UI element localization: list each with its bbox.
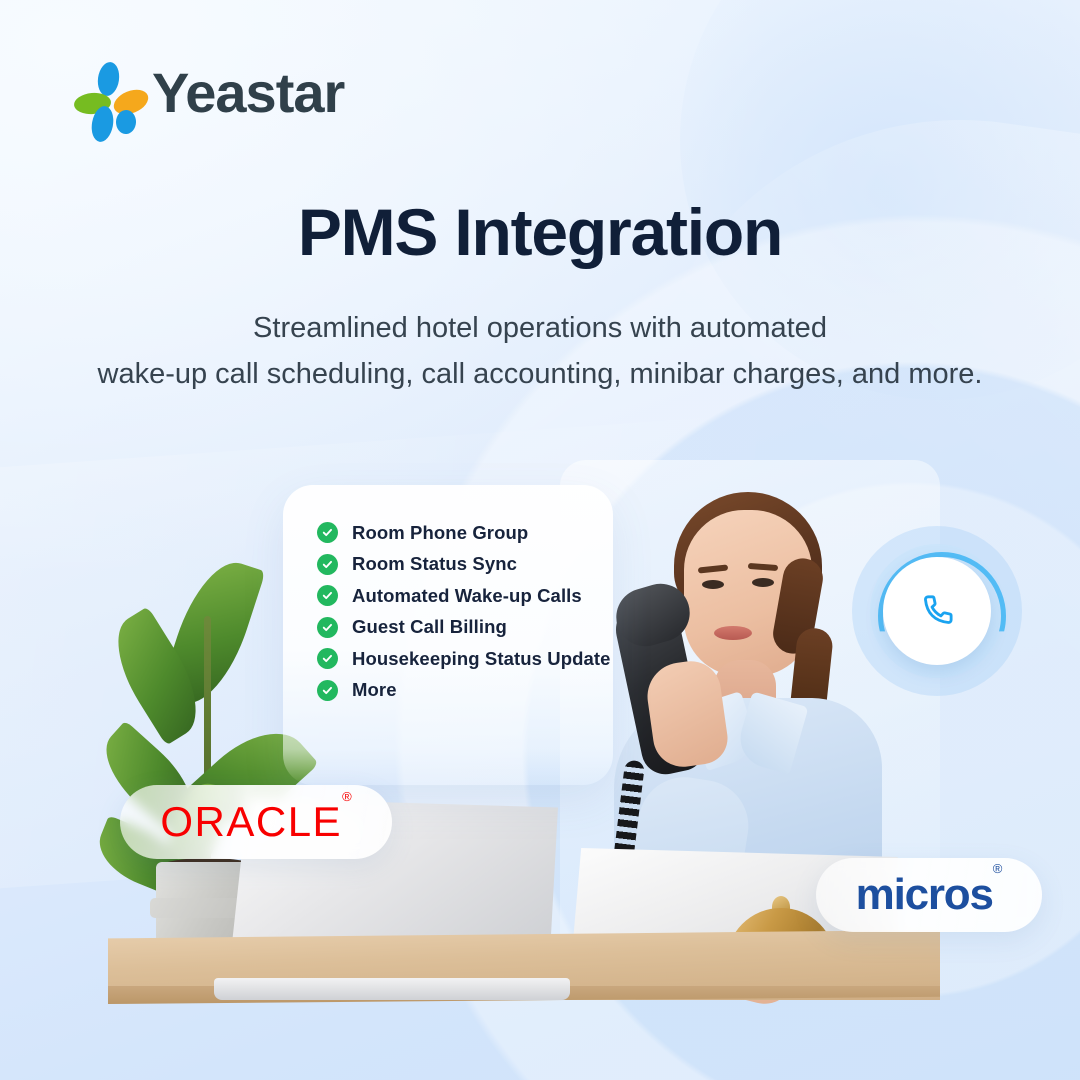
brand-wordmark: Yeastar bbox=[152, 65, 344, 121]
feature-list: Room Phone Group Room Status Sync Automa… bbox=[283, 485, 613, 706]
illustration-scene: Room Phone Group Room Status Sync Automa… bbox=[0, 430, 1080, 1080]
person-eye bbox=[752, 578, 774, 587]
logo-petal-top bbox=[96, 61, 122, 98]
phone-handset-icon bbox=[917, 591, 957, 631]
micros-trademark: ® bbox=[993, 861, 1003, 876]
feature-label: Housekeeping Status Update bbox=[352, 648, 611, 670]
logo-petal-center bbox=[116, 110, 137, 135]
laptop-left-base bbox=[214, 978, 570, 1000]
yeastar-pinwheel-logo-icon bbox=[78, 62, 138, 124]
promo-graphic: Yeastar PMS Integration Streamlined hote… bbox=[0, 0, 1080, 1080]
partner-badge-oracle[interactable]: ORACLE® bbox=[120, 785, 392, 859]
oracle-wordmark: ORACLE bbox=[160, 798, 342, 845]
list-item[interactable]: Automated Wake-up Calls bbox=[317, 580, 613, 612]
phone-icon-disc[interactable] bbox=[883, 557, 991, 665]
check-circle-icon bbox=[317, 522, 338, 543]
check-circle-icon bbox=[317, 585, 338, 606]
oracle-trademark: ® bbox=[342, 789, 352, 804]
brand-logo[interactable]: Yeastar bbox=[78, 62, 344, 124]
feature-label: Automated Wake-up Calls bbox=[352, 585, 582, 607]
phone-badge bbox=[852, 526, 1022, 696]
list-item[interactable]: More bbox=[317, 675, 613, 707]
page-subtitle: Streamlined hotel operations with automa… bbox=[0, 306, 1080, 398]
list-item[interactable]: Room Status Sync bbox=[317, 549, 613, 581]
feature-label: Room Phone Group bbox=[352, 522, 528, 544]
feature-label: More bbox=[352, 679, 397, 701]
check-circle-icon bbox=[317, 648, 338, 669]
person-mouth bbox=[714, 626, 752, 640]
subtitle-line-1: Streamlined hotel operations with automa… bbox=[0, 306, 1080, 352]
list-item[interactable]: Housekeeping Status Update bbox=[317, 643, 613, 675]
person-eye bbox=[702, 580, 724, 589]
check-circle-icon bbox=[317, 617, 338, 638]
feature-label: Guest Call Billing bbox=[352, 616, 507, 638]
partner-badge-micros[interactable]: micros® bbox=[816, 858, 1042, 932]
feature-list-card: Room Phone Group Room Status Sync Automa… bbox=[283, 485, 613, 785]
oracle-logo-icon: ORACLE® bbox=[160, 798, 351, 846]
check-circle-icon bbox=[317, 680, 338, 701]
micros-logo-icon: micros® bbox=[856, 870, 1003, 920]
feature-label: Room Status Sync bbox=[352, 553, 517, 575]
check-circle-icon bbox=[317, 554, 338, 575]
list-item[interactable]: Room Phone Group bbox=[317, 517, 613, 549]
page-title: PMS Integration bbox=[0, 194, 1080, 270]
list-item[interactable]: Guest Call Billing bbox=[317, 612, 613, 644]
micros-wordmark: micros bbox=[856, 870, 993, 919]
subtitle-line-2: wake-up call scheduling, call accounting… bbox=[0, 352, 1080, 398]
